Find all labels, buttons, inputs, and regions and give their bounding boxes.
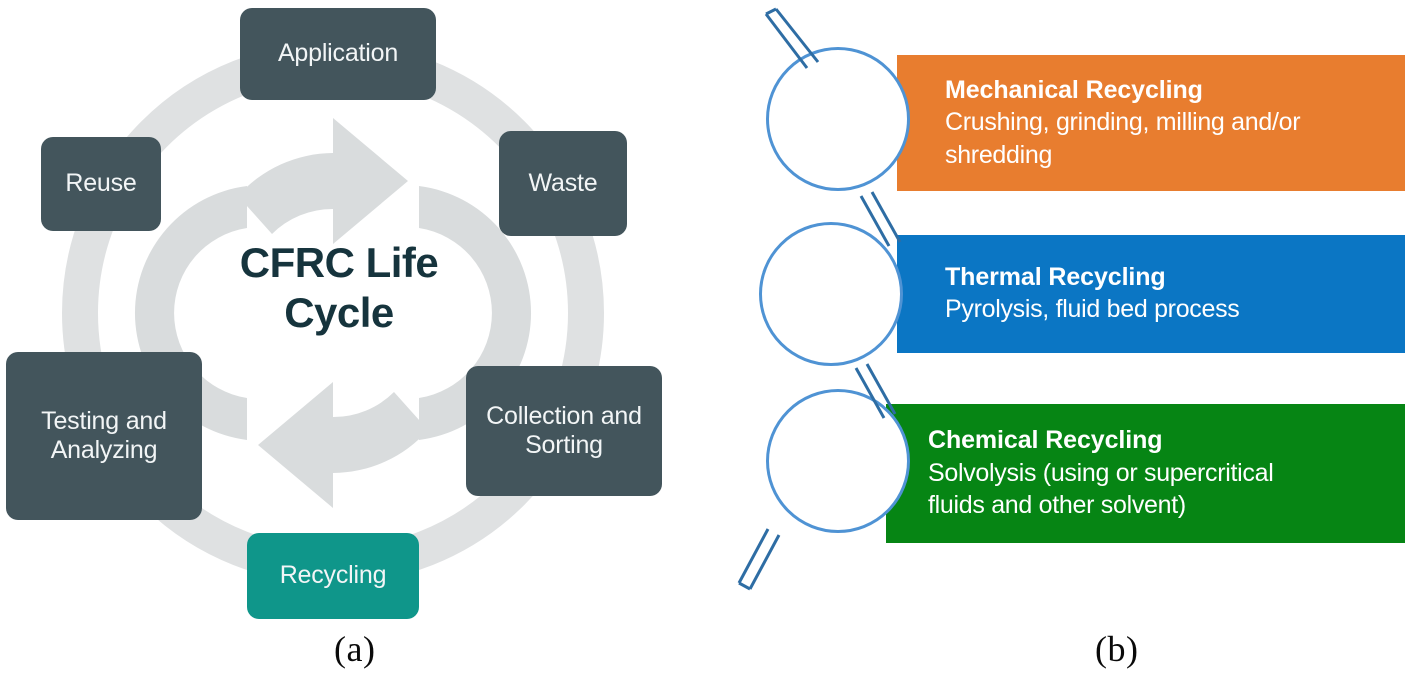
cycle-stage-collection-and-sorting[interactable]: Collection and Sorting [466, 366, 662, 496]
connector-mid1-stroke-b [872, 192, 900, 242]
cycle-stage-waste[interactable]: Waste [499, 131, 627, 236]
cycle-stage-reuse-label: Reuse [65, 169, 136, 199]
collection-label-line2: Sorting [525, 431, 603, 459]
connector-bottom-stroke-b [750, 535, 779, 589]
cycle-stage-waste-label: Waste [529, 169, 598, 199]
figure-root: Application Waste Collection and Sorting… [0, 0, 1412, 679]
cycle-stage-recycling[interactable]: Recycling [247, 533, 419, 619]
cycle-stage-reuse[interactable]: Reuse [41, 137, 161, 231]
connector-bottom-stroke-a [739, 529, 768, 583]
testing-label-line1: Testing and [41, 407, 167, 435]
cycle-stage-recycling-label: Recycling [280, 561, 387, 591]
cycle-center-title: CFRC Life Cycle [193, 238, 485, 337]
testing-label-line2: Analyzing [51, 436, 158, 464]
panel-a-cfrc-life-cycle: Application Waste Collection and Sorting… [0, 0, 706, 679]
cycle-stage-application[interactable]: Application [240, 8, 436, 100]
subfigure-caption-a: (a) [334, 628, 375, 670]
connector-mid2-stroke-a [856, 368, 884, 418]
cycle-stage-testing-and-analyzing-label: Testing and Analyzing [41, 407, 167, 466]
cycle-stage-testing-and-analyzing[interactable]: Testing and Analyzing [6, 352, 202, 520]
panel-b-recycling-methods: Mechanical Recycling Crushing, grinding,… [706, 0, 1412, 679]
cycle-stage-application-label: Application [278, 39, 398, 69]
connector-mid1-stroke-a [861, 196, 889, 246]
cycle-center-title-line1: CFRC Life [193, 238, 485, 288]
chain-connectors [706, 0, 1412, 679]
cycle-stage-collection-and-sorting-label: Collection and Sorting [486, 402, 642, 461]
cycle-center-title-line2: Cycle [193, 288, 485, 338]
connector-top-cap [766, 9, 776, 14]
collection-label-line1: Collection and [486, 402, 642, 430]
connector-mid2-stroke-b [867, 364, 895, 414]
connector-bottom-cap [739, 583, 750, 589]
